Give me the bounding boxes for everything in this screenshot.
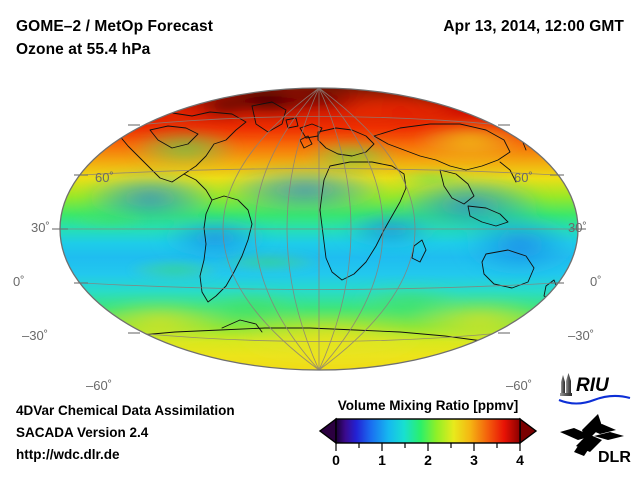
colorbar-svg: 0 1 2 3 4 (314, 417, 542, 469)
riu-logo: RIU (556, 371, 634, 407)
colorbar-tick-4: 4 (516, 452, 524, 468)
lat-label-left-m30: –30˚ (22, 328, 48, 343)
colorbar-high-arrow (520, 419, 536, 443)
cathedral-icon (560, 373, 572, 396)
ozone-map-svg (0, 70, 640, 380)
colorbar-tick-3: 3 (470, 452, 478, 468)
lat-label-right-60: 60˚ (514, 170, 533, 185)
colorbar-ticks (336, 443, 520, 451)
colorbar-gradient (336, 419, 520, 443)
dlr-logo: DLR (558, 412, 634, 464)
colorbar: Volume Mixing Ratio [ppmv] (318, 398, 538, 470)
footer-version: SACADA Version 2.4 (16, 425, 148, 440)
colorbar-low-arrow (320, 419, 336, 443)
lat-label-left-m60: –60˚ (86, 378, 112, 393)
lat-label-right-0: 0˚ (590, 274, 602, 289)
lat-label-left-30: 30˚ (31, 220, 50, 235)
page-title-instrument: GOME–2 / MetOp Forecast (16, 18, 213, 36)
lat-label-left-0: 0˚ (13, 274, 25, 289)
colorbar-tick-2: 2 (424, 452, 432, 468)
header-datetime: Apr 13, 2014, 12:00 GMT (443, 18, 624, 36)
dlr-logo-text: DLR (598, 449, 631, 464)
page-title-product: Ozone at 55.4 hPa (16, 41, 150, 59)
ozone-map-panel: 60˚ 30˚ 0˚ –30˚ –60˚ 60˚ 30˚ 0˚ –30˚ –60… (0, 70, 640, 380)
riu-wave (559, 396, 630, 404)
colorbar-title: Volume Mixing Ratio [ppmv] (318, 398, 538, 413)
colorbar-tick-0: 0 (332, 452, 340, 468)
footer-method: 4DVar Chemical Data Assimilation (16, 403, 235, 418)
lat-label-right-30: 30˚ (568, 220, 587, 235)
lat-label-right-m60: –60˚ (506, 378, 532, 393)
riu-logo-text: RIU (576, 375, 610, 396)
footer-url[interactable]: http://wdc.dlr.de (16, 447, 120, 462)
lat-label-left-60: 60˚ (95, 170, 114, 185)
lat-label-right-m30: –30˚ (568, 328, 594, 343)
colorbar-tick-1: 1 (378, 452, 386, 468)
